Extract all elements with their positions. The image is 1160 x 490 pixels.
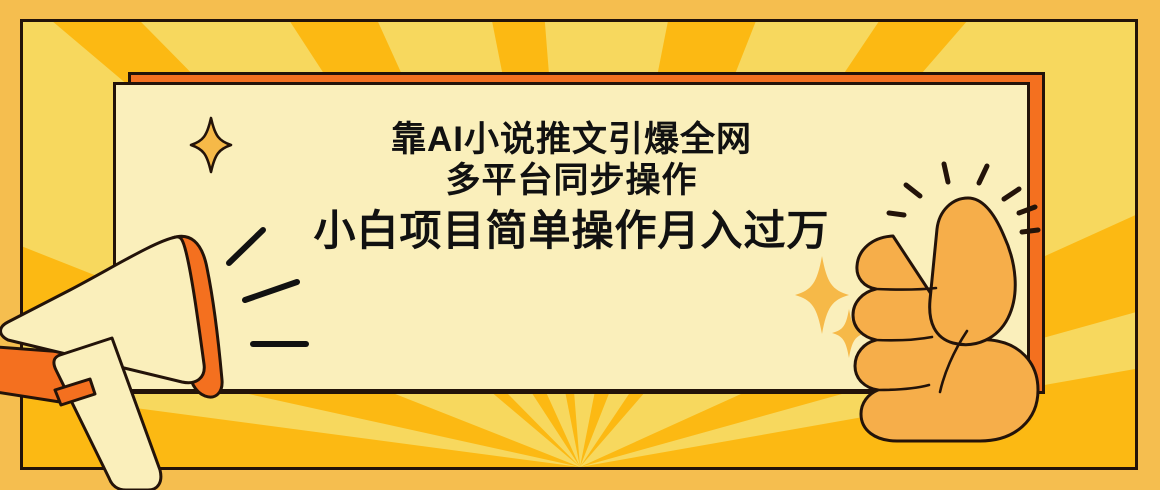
- poster-canvas: 靠AI小说推文引爆全网 多平台同步操作 小白项目简单操作月入过万: [0, 0, 1160, 490]
- content-card: [113, 82, 1030, 392]
